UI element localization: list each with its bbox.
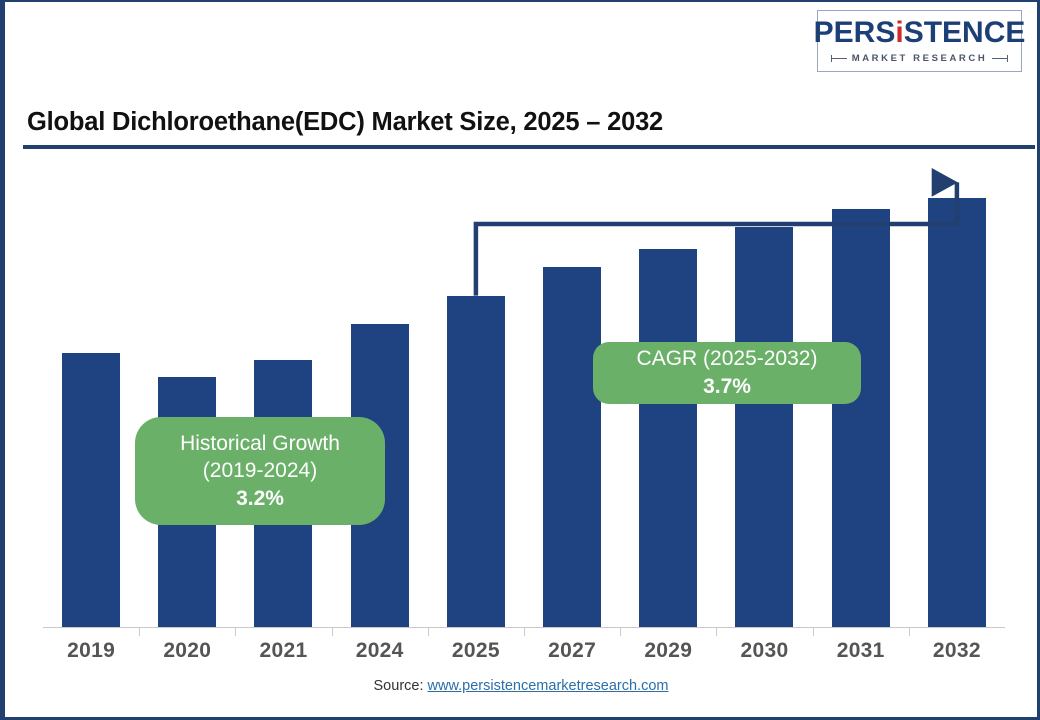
bar-2029[interactable] [639, 249, 697, 627]
company-logo: PERSiSTENCE MARKET RESEARCH [817, 10, 1022, 72]
chart-plot-area: US$ 12.4 BnUS$ 15.0 BnUS$19.4 Bn 2019202… [5, 152, 1037, 632]
bar-2027[interactable] [543, 267, 601, 627]
historical-growth-callout-badge: Historical Growth (2019-2024) 3.2% [135, 417, 385, 525]
x-axis-tick [909, 627, 910, 636]
source-line: Source: www.persistencemarketresearch.co… [5, 678, 1037, 694]
logo-rule-left-icon [831, 58, 847, 59]
x-axis-label-2029: 2029 [620, 639, 716, 663]
x-axis-labels: 2019202020212024202520272029203020312032 [43, 639, 1005, 673]
cagr-callout-badge: CAGR (2025-2032) 3.7% [593, 342, 861, 404]
historical-callout-value: 3.2% [236, 485, 284, 512]
source-prefix: Source: [374, 678, 428, 694]
logo-wordmark: PERSiSTENCE [814, 18, 1026, 48]
x-axis-label-2027: 2027 [524, 639, 620, 663]
logo-subtitle: MARKET RESEARCH [852, 53, 988, 64]
historical-callout-line2: (2019-2024) [203, 457, 317, 485]
x-axis-label-2020: 2020 [139, 639, 235, 663]
bar-2025[interactable] [447, 296, 505, 627]
logo-subtitle-row: MARKET RESEARCH [831, 53, 1009, 64]
bar-2032[interactable] [928, 198, 986, 627]
x-axis-tick [813, 627, 814, 636]
x-axis-tick [428, 627, 429, 636]
x-axis-label-2019: 2019 [43, 639, 139, 663]
x-axis-label-2030: 2030 [716, 639, 812, 663]
cagr-callout-line1: CAGR (2025-2032) [637, 345, 818, 373]
chart-page: PERSiSTENCE MARKET RESEARCH Global Dichl… [0, 0, 1040, 720]
x-axis-tick [716, 627, 717, 636]
bar-slot [332, 152, 428, 627]
bar-2030[interactable] [735, 227, 793, 627]
source-link[interactable]: www.persistencemarketresearch.com [428, 678, 669, 694]
x-axis-tick [139, 627, 140, 636]
logo-rule-right-icon [992, 58, 1008, 59]
bar-slot [235, 152, 331, 627]
x-axis-label-2032: 2032 [909, 639, 1005, 663]
logo-word-part1: PERS [814, 16, 896, 49]
historical-callout-line1: Historical Growth [180, 430, 340, 458]
page-title: Global Dichloroethane(EDC) Market Size, … [27, 108, 663, 137]
bar-slot: US$ 15.0 Bn [428, 152, 524, 627]
bar-slot: US$ 12.4 Bn [43, 152, 139, 627]
x-axis-tick [524, 627, 525, 636]
logo-word-accent-i: i [895, 16, 903, 49]
logo-word-part2: STENCE [904, 16, 1026, 49]
x-axis-tick [332, 627, 333, 636]
x-axis-tick [620, 627, 621, 636]
bar-2031[interactable] [832, 209, 890, 627]
title-underline-divider [23, 145, 1035, 149]
x-axis-label-2021: 2021 [235, 639, 331, 663]
bar-2019[interactable] [62, 353, 120, 627]
cagr-callout-value: 3.7% [703, 373, 751, 400]
x-axis-label-2031: 2031 [813, 639, 909, 663]
bar-slot [139, 152, 235, 627]
x-axis-tick [235, 627, 236, 636]
x-axis-label-2025: 2025 [428, 639, 524, 663]
bar-slot: US$19.4 Bn [909, 152, 1005, 627]
x-axis-label-2024: 2024 [332, 639, 428, 663]
